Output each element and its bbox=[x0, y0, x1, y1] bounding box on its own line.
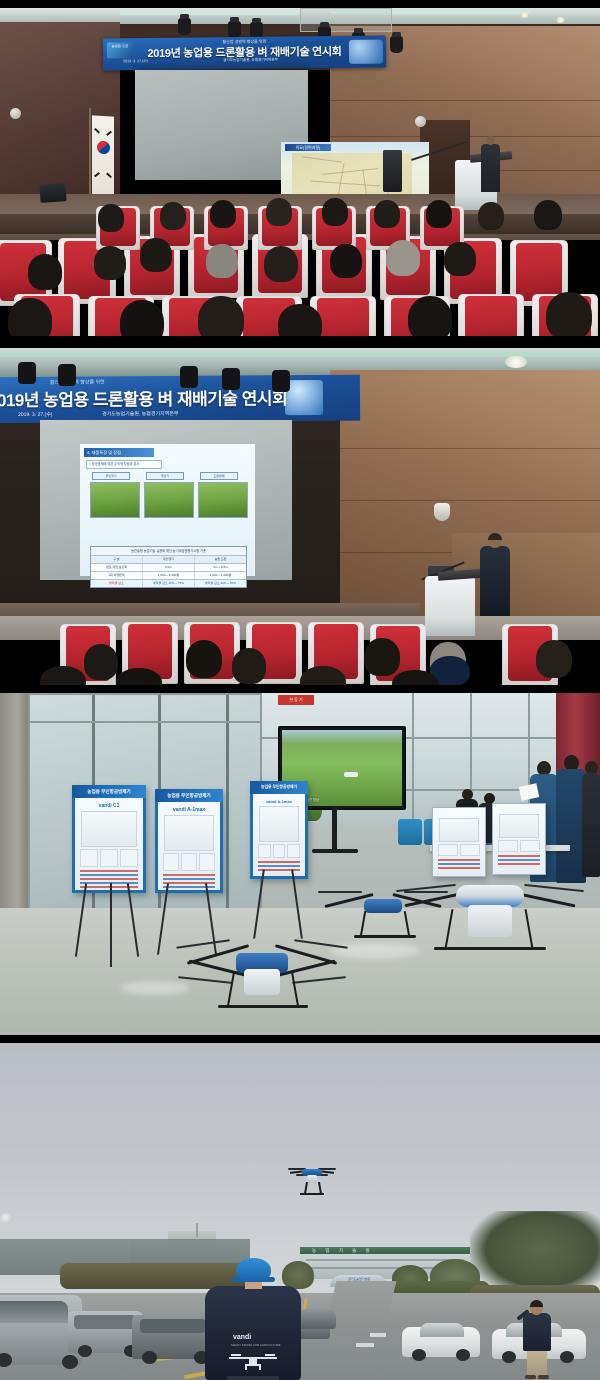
slide-table-caption: 농진흥청 농업기술 실용화 재단 농기계검정평가시험 기준 bbox=[91, 547, 246, 556]
wall-seam bbox=[330, 500, 600, 501]
exhibit-board-2-header: 농업용 무인항공방제기 bbox=[155, 789, 223, 802]
table-cell: 부착율 감소 40% ~ 50% bbox=[195, 580, 246, 587]
wall-speaker-icon bbox=[415, 116, 426, 127]
podium bbox=[425, 576, 475, 636]
slide-section-title-bar: 4. 제품특징 및 장점 bbox=[84, 448, 154, 457]
banner-date: 2019. 3. 27.(수) bbox=[123, 59, 148, 64]
jacket-tagline-text: SMART DRONE FOR AGRICULTURE bbox=[231, 1344, 281, 1347]
slide-photo-label-1: 무인헬기 bbox=[92, 472, 130, 480]
stage-light-icon bbox=[18, 362, 36, 384]
exhibit-board-2-thumbnails bbox=[163, 853, 215, 871]
parking-line bbox=[356, 1343, 374, 1347]
operator-jacket: vandi SMART DRONE FOR AGRICULTURE bbox=[205, 1286, 301, 1380]
exhibit-drone-right bbox=[400, 853, 580, 953]
video-drone-icon bbox=[344, 772, 358, 777]
table-header-cell: 농업 드론 bbox=[195, 556, 246, 563]
van-windows bbox=[140, 1319, 206, 1333]
exhibit-board-3-header: 농업용 무인항공방제기 bbox=[250, 781, 308, 794]
parked-car-small bbox=[300, 1309, 336, 1329]
slide-photo-label-2-text: 무인기 bbox=[147, 473, 183, 479]
building-window-row bbox=[306, 1259, 464, 1261]
banner-organizers: 경기도농업기술원, 농협경기지역본부 bbox=[102, 410, 178, 418]
photo-4-outdoor-drone-flight-demo: 농 업 기 술 원 경기도농업기술원 bbox=[0, 1043, 600, 1380]
van-wheel bbox=[78, 1345, 92, 1357]
table-cell: 5m ~ 6.5m bbox=[195, 564, 246, 571]
exhibit-board-2: 농업용 무인항공방제기 vandi A-1max bbox=[155, 789, 223, 893]
drone-spray-tank bbox=[307, 1175, 317, 1183]
table-row-header: 구 분 무인헬기 농업 드론 bbox=[91, 556, 246, 564]
easel-leg bbox=[110, 883, 112, 967]
photo-4-scene: 농 업 기 술 원 경기도농업기술원 bbox=[0, 1043, 600, 1380]
table-header-cell: 구 분 bbox=[91, 556, 143, 563]
operator-neck bbox=[245, 1281, 262, 1289]
table-row: 1회 비행면적 1,000 ~ 1,600평 1,000 ~ 1,200평 bbox=[91, 572, 246, 580]
slide-subtitle-text: □ 항공방제에 따른 수직적 차량과 분사 bbox=[87, 461, 161, 468]
car-wheel bbox=[412, 1349, 426, 1361]
spotter-shoe bbox=[525, 1375, 536, 1379]
flying-drone bbox=[290, 1165, 334, 1199]
table-cell: 1회 비행면적 bbox=[91, 572, 143, 579]
street-lamp-icon bbox=[0, 1213, 14, 1223]
wall-seam bbox=[330, 448, 600, 449]
exhibit-board-1-header-text: 농업용 무인항공방제기 bbox=[72, 785, 146, 798]
spotter-legs bbox=[527, 1349, 547, 1377]
presenter-head bbox=[486, 136, 495, 145]
drone-operator: vandi SMART DRONE FOR AGRICULTURE bbox=[205, 1258, 301, 1380]
window-mullion bbox=[412, 693, 414, 823]
van-wheel bbox=[62, 1355, 78, 1369]
downlight-icon bbox=[520, 12, 529, 18]
flag-pole bbox=[89, 108, 91, 204]
exhibit-board-3-drone-photo bbox=[259, 806, 299, 842]
floor-reflection bbox=[120, 981, 190, 995]
antenna-mast bbox=[196, 1223, 198, 1237]
car-wheel bbox=[502, 1351, 516, 1363]
photo-1-scene: 농업용 드론 활산업 경쟁력 향상을 위한 2019년 농업용 드론활용 벼 재… bbox=[0, 8, 600, 336]
wall-speaker-icon bbox=[10, 108, 21, 119]
exhibit-board-1-drone-photo bbox=[81, 811, 137, 847]
parking-line bbox=[370, 1333, 386, 1337]
banner-date: 2019. 3. 27.(수) bbox=[18, 411, 52, 418]
banner-title: 2019년 농업용 드론활용 벼 재배기술 연시회 bbox=[0, 384, 287, 411]
exhibit-board-1-specs bbox=[80, 870, 138, 888]
van-windows bbox=[74, 1315, 136, 1329]
slide-photo-label-3-text: 드론방제 bbox=[201, 473, 237, 479]
jacket-brand-text: vandi bbox=[233, 1334, 251, 1341]
spotter-person bbox=[520, 1301, 554, 1379]
floor-monitor-speaker-icon bbox=[39, 183, 66, 203]
spotter-coat bbox=[523, 1313, 551, 1351]
exhibit-board-1-thumbnails bbox=[80, 849, 138, 867]
table-cell: 부착율 감소 45% ~ 75% bbox=[143, 580, 195, 587]
exhibit-board-2-header-text: 농업용 무인항공방제기 bbox=[155, 789, 223, 802]
table-cell: 1,000 ~ 1,200평 bbox=[195, 572, 246, 579]
slide-photo-label-1-text: 무인헬기 bbox=[93, 473, 129, 479]
slide-section-title: 4. 제품특징 및 장점 bbox=[84, 448, 154, 457]
van-wheel bbox=[142, 1351, 157, 1364]
stage-light-icon bbox=[228, 21, 241, 38]
slide-photo-2 bbox=[144, 482, 194, 518]
spotter-hair bbox=[530, 1300, 543, 1307]
photo-3-scene: 현 동 기 무인헬기 방제 시연 영상 bbox=[0, 693, 600, 1035]
car-wheel bbox=[456, 1349, 470, 1361]
exhibit-board-2-drone-photo bbox=[164, 815, 214, 851]
slide-photo-3 bbox=[198, 482, 248, 518]
table-row: 살포 작업 살포폭 9.0m 5m ~ 6.5m bbox=[91, 564, 246, 572]
table-header-cell: 무인헬기 bbox=[143, 556, 195, 563]
presenter-body bbox=[480, 546, 510, 616]
downlight-icon bbox=[505, 356, 527, 368]
lighting-truss bbox=[300, 8, 392, 32]
taeguk-icon bbox=[97, 141, 110, 155]
car-wheel bbox=[560, 1351, 574, 1363]
car-cabin bbox=[420, 1323, 464, 1337]
photo-2-auditorium-lecture-slide: 활산업 경쟁력 향상을 위한 2019년 농업용 드론활용 벼 재배기술 연시회… bbox=[0, 348, 600, 685]
photo-3-lobby-drone-exhibition: 현 동 기 무인헬기 방제 시연 영상 bbox=[0, 693, 600, 1035]
wall-seam bbox=[330, 100, 600, 101]
monitor-base bbox=[312, 849, 358, 853]
presenter bbox=[480, 136, 500, 194]
projection-screen: 육묘(절편과정) bbox=[135, 70, 308, 180]
stage-light-icon bbox=[178, 18, 191, 35]
operator-trousers bbox=[227, 1376, 279, 1380]
slide-header-text: 육묘(절편과정) bbox=[285, 144, 331, 151]
door-rail bbox=[30, 721, 260, 723]
slide-header-bar: 육묘(절편과정) bbox=[285, 144, 331, 151]
photo-2-scene: 활산업 경쟁력 향상을 위한 2019년 농업용 드론활용 벼 재배기술 연시회… bbox=[0, 348, 600, 685]
stage-light-icon bbox=[222, 368, 240, 390]
exhibit-board-3: 농업용 무인항공방제기 vandi A-1max bbox=[250, 781, 308, 879]
exhibit-board-1: 농업용 무인항공방제기 vandi C1 bbox=[72, 785, 146, 893]
building-sign: 농 업 기 술 원 bbox=[312, 1248, 374, 1254]
exhibit-board-3-header-text: 농업용 무인항공방제기 bbox=[250, 781, 308, 794]
ceiling-light-strip bbox=[120, 10, 300, 15]
projected-slide: 4. 제품특징 및 장점 □ 항공방제에 따른 수직적 차량과 분사 무인헬기 … bbox=[80, 444, 255, 576]
exhibit-board-1-header: 농업용 무인항공방제기 bbox=[72, 785, 146, 798]
van-windows bbox=[0, 1301, 68, 1323]
exhibit-board-3-model: vandi A-1max bbox=[253, 799, 305, 804]
exhibit-drone-front bbox=[182, 911, 342, 1011]
photo-1-auditorium-lecture-wide: 농업용 드론 활산업 경쟁력 향상을 위한 2019년 농업용 드론활용 벼 재… bbox=[0, 8, 600, 336]
table-cell: 1,000 ~ 1,600평 bbox=[143, 572, 195, 579]
photo-strip-page: 농업용 드론 활산업 경쟁력 향상을 위한 2019년 농업용 드론활용 벼 재… bbox=[0, 0, 600, 1380]
slide-photo-label-3: 드론방제 bbox=[200, 472, 238, 480]
exhibit-board-1-model: vandi C1 bbox=[75, 803, 143, 809]
monitor-stand bbox=[332, 806, 337, 851]
staff-member bbox=[582, 761, 600, 879]
table-cell: 부착율 감소 bbox=[91, 580, 143, 587]
spotter-shoe bbox=[538, 1375, 549, 1379]
table-row: 부착율 감소 부착율 감소 45% ~ 75% 부착율 감소 40% ~ 50% bbox=[91, 580, 246, 587]
exhibit-board-2-model: vandi A-1max bbox=[158, 807, 220, 813]
downlight-icon bbox=[556, 17, 565, 23]
event-banner: 농업용 드론 활산업 경쟁력 향상을 위한 2019년 농업용 드론활용 벼 재… bbox=[103, 36, 386, 71]
presenter-body bbox=[481, 144, 500, 192]
exhibit-board-3-thumbnails bbox=[258, 844, 300, 858]
floor-speaker-icon bbox=[383, 150, 402, 192]
slide-photo-1 bbox=[90, 482, 140, 518]
stage-light-icon bbox=[180, 366, 198, 388]
cctv-camera-icon bbox=[434, 503, 450, 521]
slide-comparison-table: 농진흥청 농업기술 실용화 재단 농기계검정평가시험 기준 구 분 무인헬기 농… bbox=[90, 546, 247, 588]
drone-skid bbox=[300, 1193, 324, 1195]
stage-light-icon bbox=[272, 370, 290, 392]
table-cell: 9.0m bbox=[143, 564, 195, 571]
slide-photo-label-2: 무인기 bbox=[146, 472, 184, 480]
wall-sign: 현 동 기 bbox=[278, 695, 314, 705]
korean-flag bbox=[92, 115, 114, 196]
banner-organizers: 경기도농업기술원, 농협경기지역본부 bbox=[223, 58, 278, 64]
table-cell: 살포 작업 살포폭 bbox=[91, 564, 143, 571]
wall-sign-text: 현 동 기 bbox=[278, 695, 314, 705]
jacket-drone-icon bbox=[229, 1352, 277, 1372]
slide-subtitle-box: □ 항공방제에 따른 수직적 차량과 분사 bbox=[86, 460, 162, 469]
safety-helmet bbox=[236, 1258, 271, 1282]
presenter bbox=[480, 534, 510, 616]
stage-light-icon bbox=[58, 364, 76, 386]
banner-logo bbox=[285, 380, 323, 415]
stage-light-icon bbox=[390, 36, 403, 53]
presenter-hair bbox=[488, 533, 502, 540]
